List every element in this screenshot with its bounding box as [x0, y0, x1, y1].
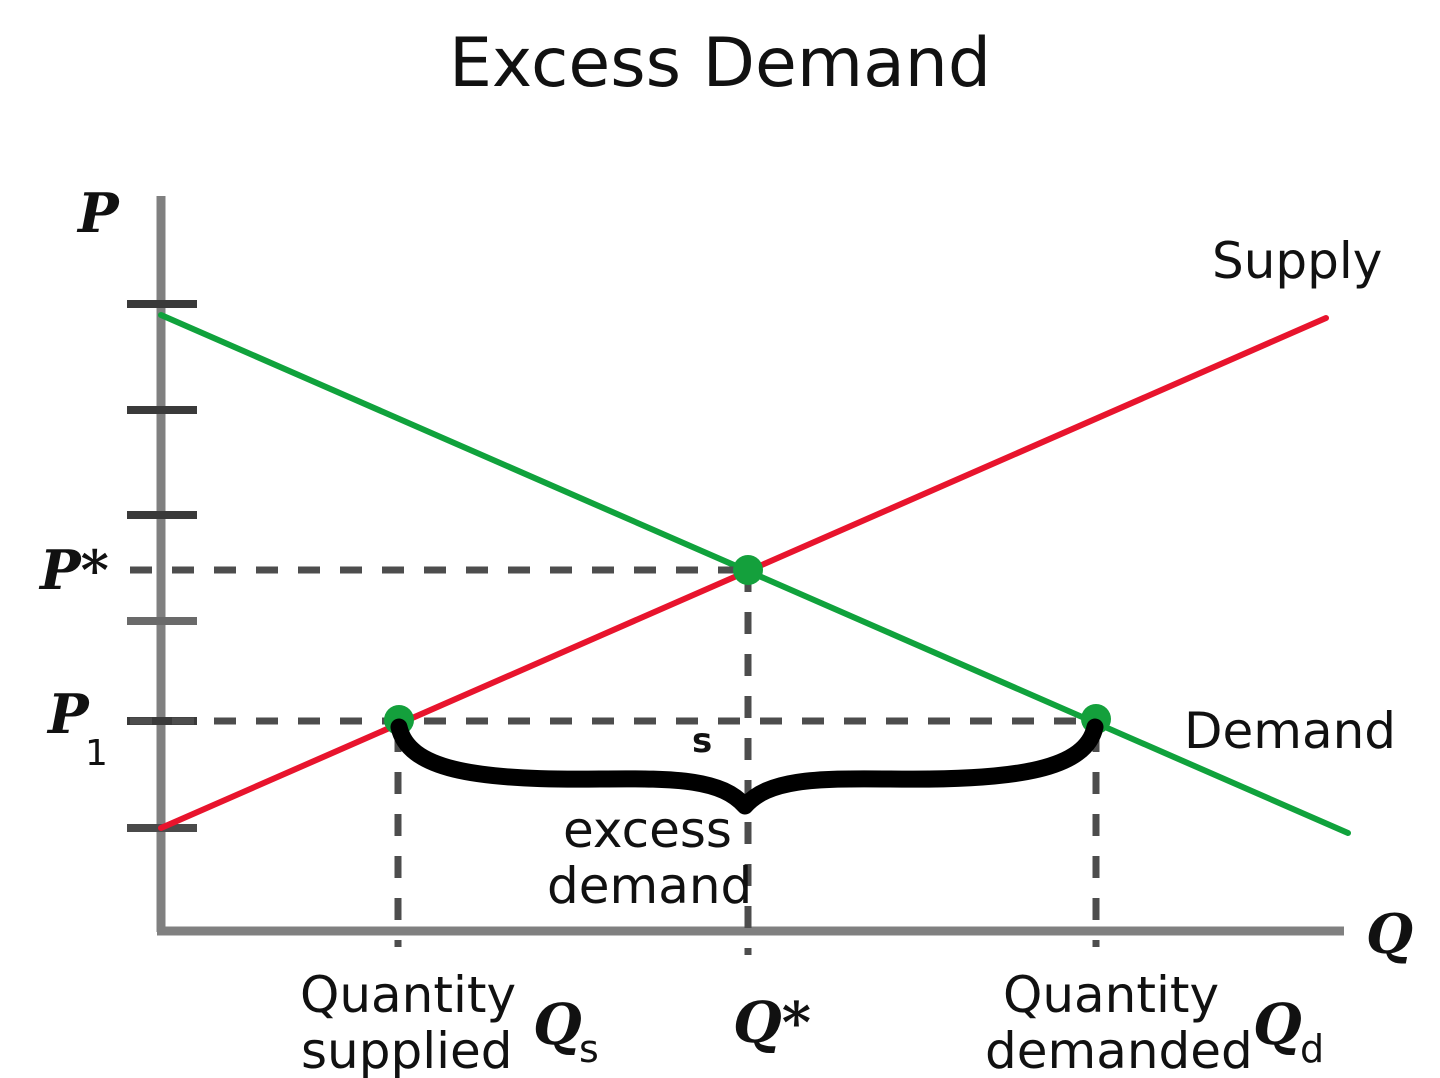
quantity-demanded-symbol: Q [1253, 992, 1302, 1058]
excess-demand-label-line2: demand [547, 857, 752, 915]
price-equilibrium-label: P* [38, 538, 109, 602]
supply-curve-label: Supply [1212, 232, 1382, 290]
quantity-supplied-label-line2: supplied [301, 1022, 513, 1078]
demand-curve-label: Demand [1184, 702, 1396, 760]
supply-demand-chart: P Q P* P 1 Supply Demand s excess demand… [0, 0, 1440, 1078]
point-equilibrium[interactable] [733, 555, 763, 585]
quantity-supplied-label-line1: Quantity [300, 966, 516, 1024]
y-axis-label: P [76, 181, 120, 245]
quantity-supplied-symbol-subscript: s [579, 1027, 599, 1071]
excess-demand-figure: Excess Demand [0, 0, 1440, 1078]
quantity-demanded-label-line1: Quantity [1003, 966, 1219, 1024]
brace-tick-label: s [692, 721, 712, 761]
excess-demand-label-line1: excess [563, 801, 732, 859]
quantity-equilibrium-symbol: Q* [733, 990, 811, 1056]
x-axis-label: Q [1366, 902, 1413, 966]
price-low-label: P [46, 682, 90, 746]
quantity-supplied-symbol: Q [533, 992, 582, 1058]
quantity-demanded-label-line2: demanded [985, 1022, 1253, 1078]
price-low-subscript: 1 [85, 733, 108, 774]
page-title: Excess Demand [0, 24, 1440, 103]
quantity-demanded-symbol-subscript: d [1300, 1027, 1324, 1071]
